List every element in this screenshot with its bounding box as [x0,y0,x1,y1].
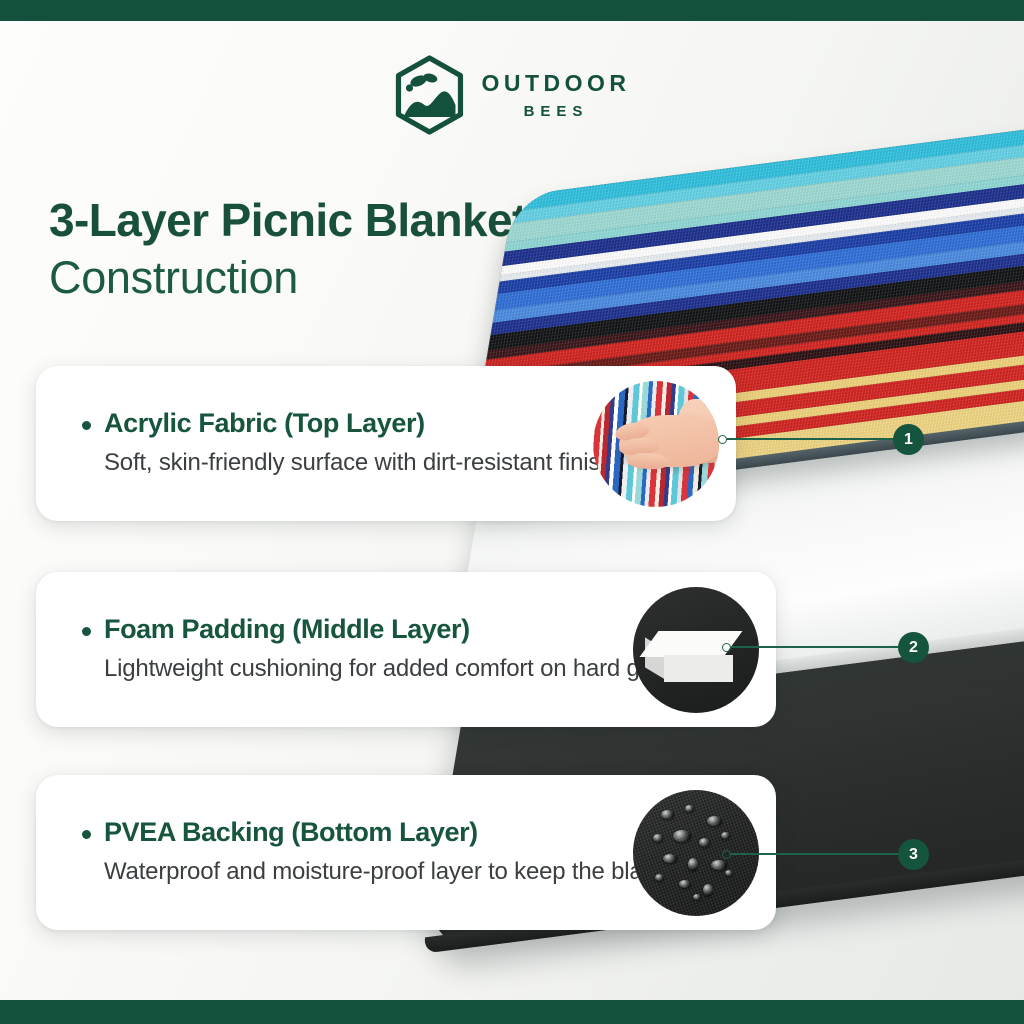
hexagon-mountain-leaf-icon [393,55,465,135]
connector-endpoint-icon [722,850,731,859]
foam-front-face [664,655,733,682]
page-title: 3-Layer Picnic Blanket Construction [49,196,527,303]
layer-badge-2: 2 [898,632,929,663]
card-title-text: Foam Padding (Middle Layer) [104,614,470,645]
page-title-line2: Construction [49,253,527,303]
water-droplet-icon [721,832,730,839]
brand-name-sub: BEES [524,104,589,119]
card-title-text: PVEA Backing (Bottom Layer) [104,817,478,848]
water-droplet-icon [703,884,713,896]
water-droplet-icon [679,880,691,888]
layer-badge-1: 1 [893,424,924,455]
bottom-accent-bar [0,1000,1024,1024]
water-droplet-icon [699,838,710,847]
card-title-text: Acrylic Fabric (Top Layer) [104,408,425,439]
brand-name-main: OUTDOOR [481,72,630,95]
water-droplet-icon [663,854,677,863]
water-droplet-icon [685,805,694,812]
bullet-icon [82,830,91,839]
water-droplet-icon [653,834,663,842]
bullet-icon [82,421,91,430]
brand-wordmark: OUTDOOR BEES [481,72,630,119]
connector-endpoint-icon [718,435,727,444]
connector-rail [731,853,902,854]
connector-line-1 [718,432,898,446]
page-title-line1: 3-Layer Picnic Blanket [49,196,527,246]
info-card-acrylic-fabric[interactable]: Acrylic Fabric (Top Layer) Soft, skin-fr… [36,366,736,521]
connector-rail [727,438,898,439]
brand-logo: OUTDOOR BEES [393,55,630,135]
connector-rail [731,646,902,647]
water-droplet-icon [673,830,691,842]
water-droplet-icon [688,858,698,871]
top-accent-bar [0,0,1024,21]
water-droplet-icon [711,860,727,870]
water-droplet-icon [707,816,722,826]
infographic-poster: OUTDOOR BEES 3-Layer Picnic Blanket Cons… [0,0,1024,1024]
water-droplet-icon [661,810,674,819]
water-droplet-icon [655,874,664,881]
info-card-foam-padding[interactable]: Foam Padding (Middle Layer) Lightweight … [36,572,776,727]
water-droplet-icon [693,894,701,900]
layer-badge-3: 3 [898,839,929,870]
connector-line-3 [722,847,902,861]
connector-endpoint-icon [722,643,731,652]
info-card-pvea-backing[interactable]: PVEA Backing (Bottom Layer) Waterproof a… [36,775,776,930]
hand-on-striped-fabric-photo [593,381,719,507]
connector-line-2 [722,640,902,654]
water-droplet-icon [725,870,733,876]
bullet-icon [82,627,91,636]
